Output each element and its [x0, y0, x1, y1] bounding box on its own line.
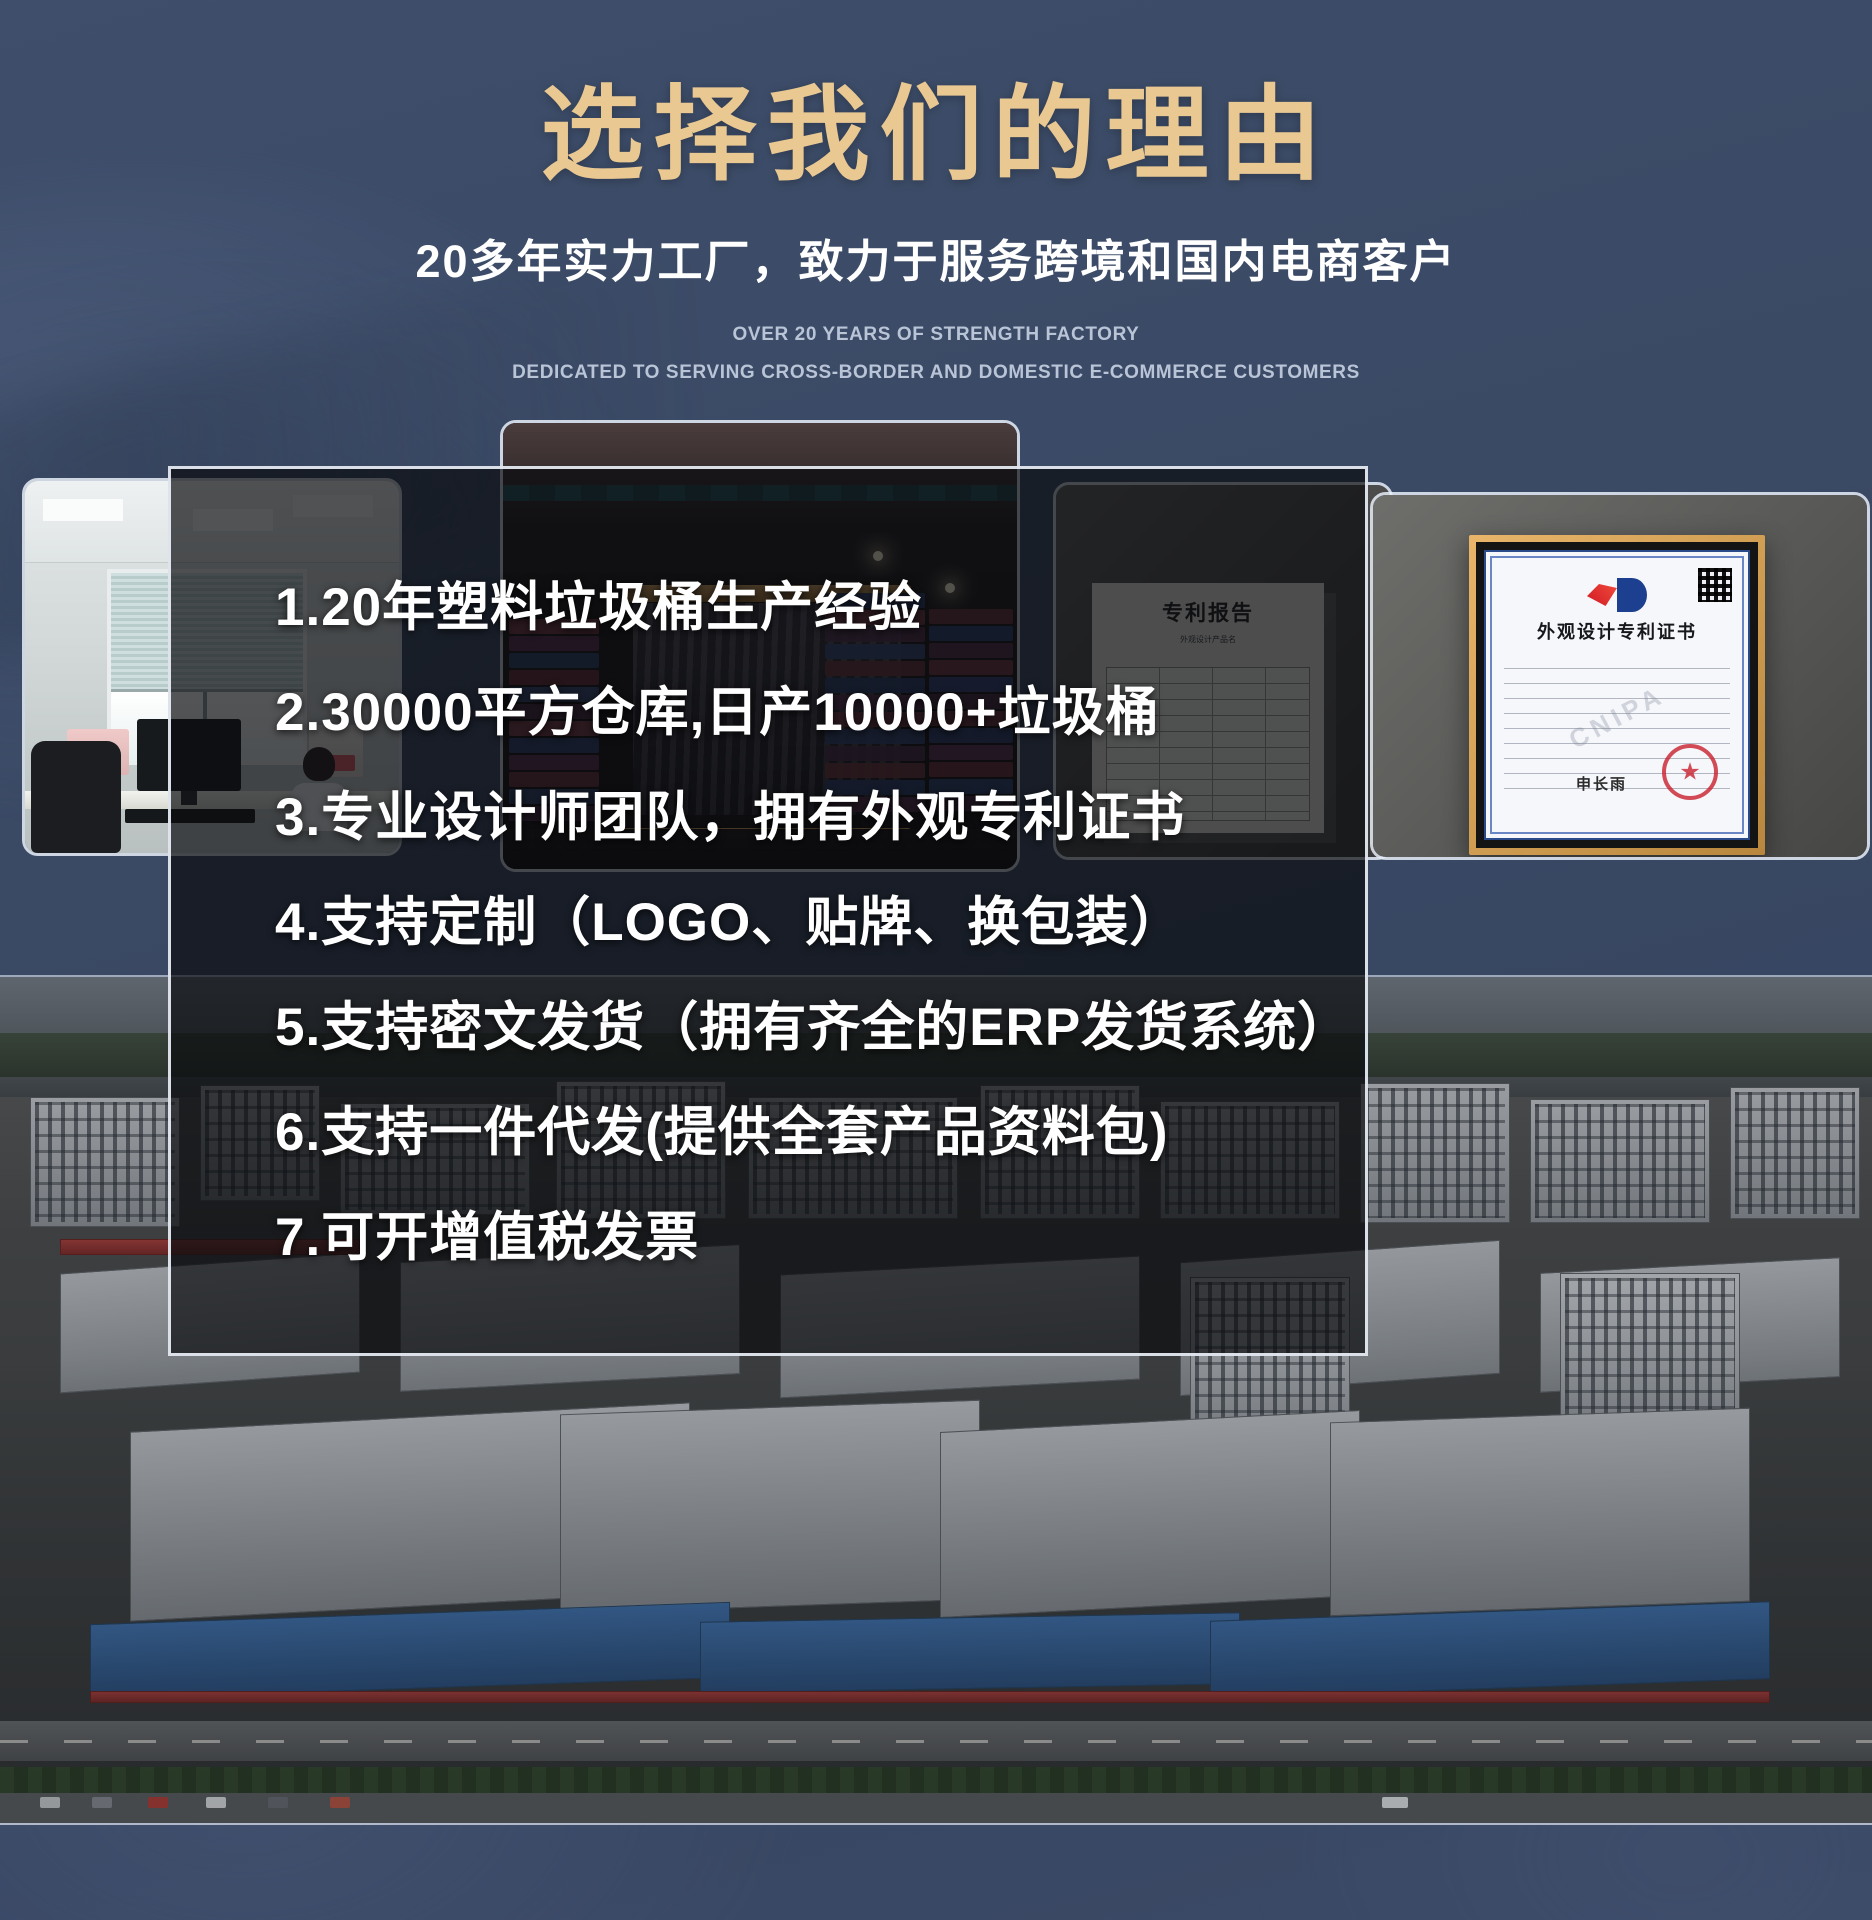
certificate-scene: 外观设计专利证书 CNIPA 申长雨: [1373, 495, 1867, 857]
english-tagline-2: DEDICATED TO SERVING CROSS-BORDER AND DO…: [0, 362, 1872, 384]
features-panel-inner: 1.20年塑料垃圾桶生产经验 2.30000平方仓库,日产10000+垃圾桶 3…: [171, 469, 1365, 1353]
office-chair: [31, 741, 121, 853]
features-panel: 1.20年塑料垃圾桶生产经验 2.30000平方仓库,日产10000+垃圾桶 3…: [168, 466, 1368, 1356]
page-title: 选择我们的理由: [0, 78, 1872, 191]
feature-item-2: 2.30000平方仓库,日产10000+垃圾桶: [275, 686, 1325, 739]
header-block: 选择我们的理由 20多年实力工厂，致力于服务跨境和国内电商客户 OVER 20 …: [0, 0, 1872, 384]
certificate-paper: 外观设计专利证书 CNIPA 申长雨: [1484, 550, 1750, 840]
certificate-mat: 外观设计专利证书 CNIPA 申长雨: [1476, 542, 1758, 848]
feature-item-6: 6.支持一件代发(提供全套产品资料包): [275, 1106, 1325, 1159]
cnipa-logo-icon: [1587, 578, 1647, 612]
feature-item-7: 7.可开增值税发票: [275, 1211, 1325, 1264]
feature-item-1: 1.20年塑料垃圾桶生产经验: [275, 581, 1325, 634]
certificate-frame: 外观设计专利证书 CNIPA 申长雨: [1469, 535, 1765, 855]
official-seal-icon: [1662, 744, 1718, 800]
feature-item-3: 3.专业设计师团队，拥有外观专利证书: [275, 791, 1325, 844]
english-tagline-1: OVER 20 YEARS OF STRENGTH FACTORY: [0, 324, 1872, 346]
qr-code-icon: [1698, 568, 1732, 602]
certificate-title: 外观设计专利证书: [1486, 618, 1748, 644]
feature-item-4: 4.支持定制（LOGO、贴牌、换包装）: [275, 896, 1325, 949]
features-list: 1.20年塑料垃圾桶生产经验 2.30000平方仓库,日产10000+垃圾桶 3…: [275, 581, 1325, 1264]
certificate-signature: 申长雨: [1576, 773, 1627, 794]
page-subtitle: 20多年实力工厂，致力于服务跨境和国内电商客户: [0, 225, 1872, 290]
certificate-photo: 外观设计专利证书 CNIPA 申长雨: [1370, 492, 1870, 860]
feature-item-5: 5.支持密文发货（拥有齐全的ERP发货系统）: [275, 1001, 1325, 1054]
